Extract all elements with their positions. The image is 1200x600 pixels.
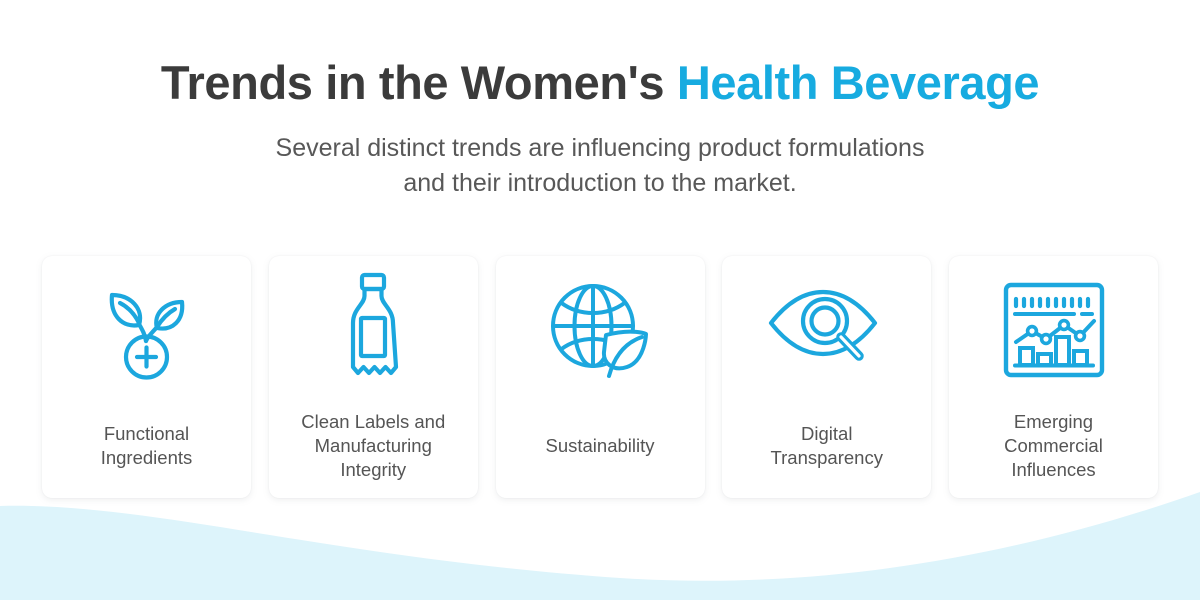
trend-card-label: Functional Ingredients bbox=[42, 404, 251, 498]
trend-card-label-line: Functional bbox=[104, 423, 189, 444]
bottle-label-icon bbox=[269, 256, 478, 404]
bottom-wave-decoration bbox=[0, 480, 1200, 600]
trend-card-label-line: Commercial bbox=[1004, 435, 1103, 456]
trend-cards-row: Functional Ingredients bbox=[42, 256, 1158, 498]
trend-card-label-line: Manufacturing bbox=[315, 435, 432, 456]
trend-card-label-line: Digital bbox=[801, 423, 852, 444]
infographic-root: Trends in the Women's Health Beverage Se… bbox=[0, 0, 1200, 600]
page-title-accent: Health Beverage bbox=[677, 56, 1039, 109]
heading-block: Trends in the Women's Health Beverage Se… bbox=[0, 0, 1200, 202]
trend-card-label-line: Ingredients bbox=[101, 447, 193, 468]
trend-card-label: Digital Transparency bbox=[722, 404, 931, 498]
trend-card-label-line: Emerging bbox=[1014, 411, 1093, 432]
trend-card-label-line: Sustainability bbox=[545, 434, 654, 458]
trend-card-functional-ingredients[interactable]: Functional Ingredients bbox=[42, 256, 251, 498]
sprout-plus-icon bbox=[42, 256, 251, 404]
trend-card-label: Clean Labels and Manufacturing Integrity bbox=[269, 404, 478, 498]
trend-card-clean-labels-manufacturing-integrity[interactable]: Clean Labels and Manufacturing Integrity bbox=[269, 256, 478, 498]
trend-card-emerging-commercial-influences[interactable]: Emerging Commercial Influences bbox=[949, 256, 1158, 498]
page-subtitle-line-2: and their introduction to the market. bbox=[0, 166, 1200, 202]
page-subtitle: Several distinct trends are influencing … bbox=[0, 109, 1200, 202]
trend-card-digital-transparency[interactable]: Digital Transparency bbox=[722, 256, 931, 498]
globe-leaf-icon bbox=[496, 256, 705, 404]
trend-card-sustainability[interactable]: Sustainability bbox=[496, 256, 705, 498]
page-title: Trends in the Women's Health Beverage bbox=[0, 0, 1200, 109]
eye-magnifier-icon bbox=[722, 256, 931, 404]
dashboard-chart-icon bbox=[949, 256, 1158, 404]
page-subtitle-line-1: Several distinct trends are influencing … bbox=[0, 131, 1200, 167]
page-title-main: Trends in the Women's bbox=[161, 56, 677, 109]
trend-card-label-line: Integrity bbox=[340, 459, 406, 480]
trend-card-label-line: Clean Labels and bbox=[301, 411, 445, 432]
trend-card-label: Emerging Commercial Influences bbox=[949, 404, 1158, 498]
trend-card-label-line: Influences bbox=[1011, 459, 1095, 480]
trend-card-label-line: Transparency bbox=[771, 447, 883, 468]
trend-card-label: Sustainability bbox=[496, 404, 705, 498]
